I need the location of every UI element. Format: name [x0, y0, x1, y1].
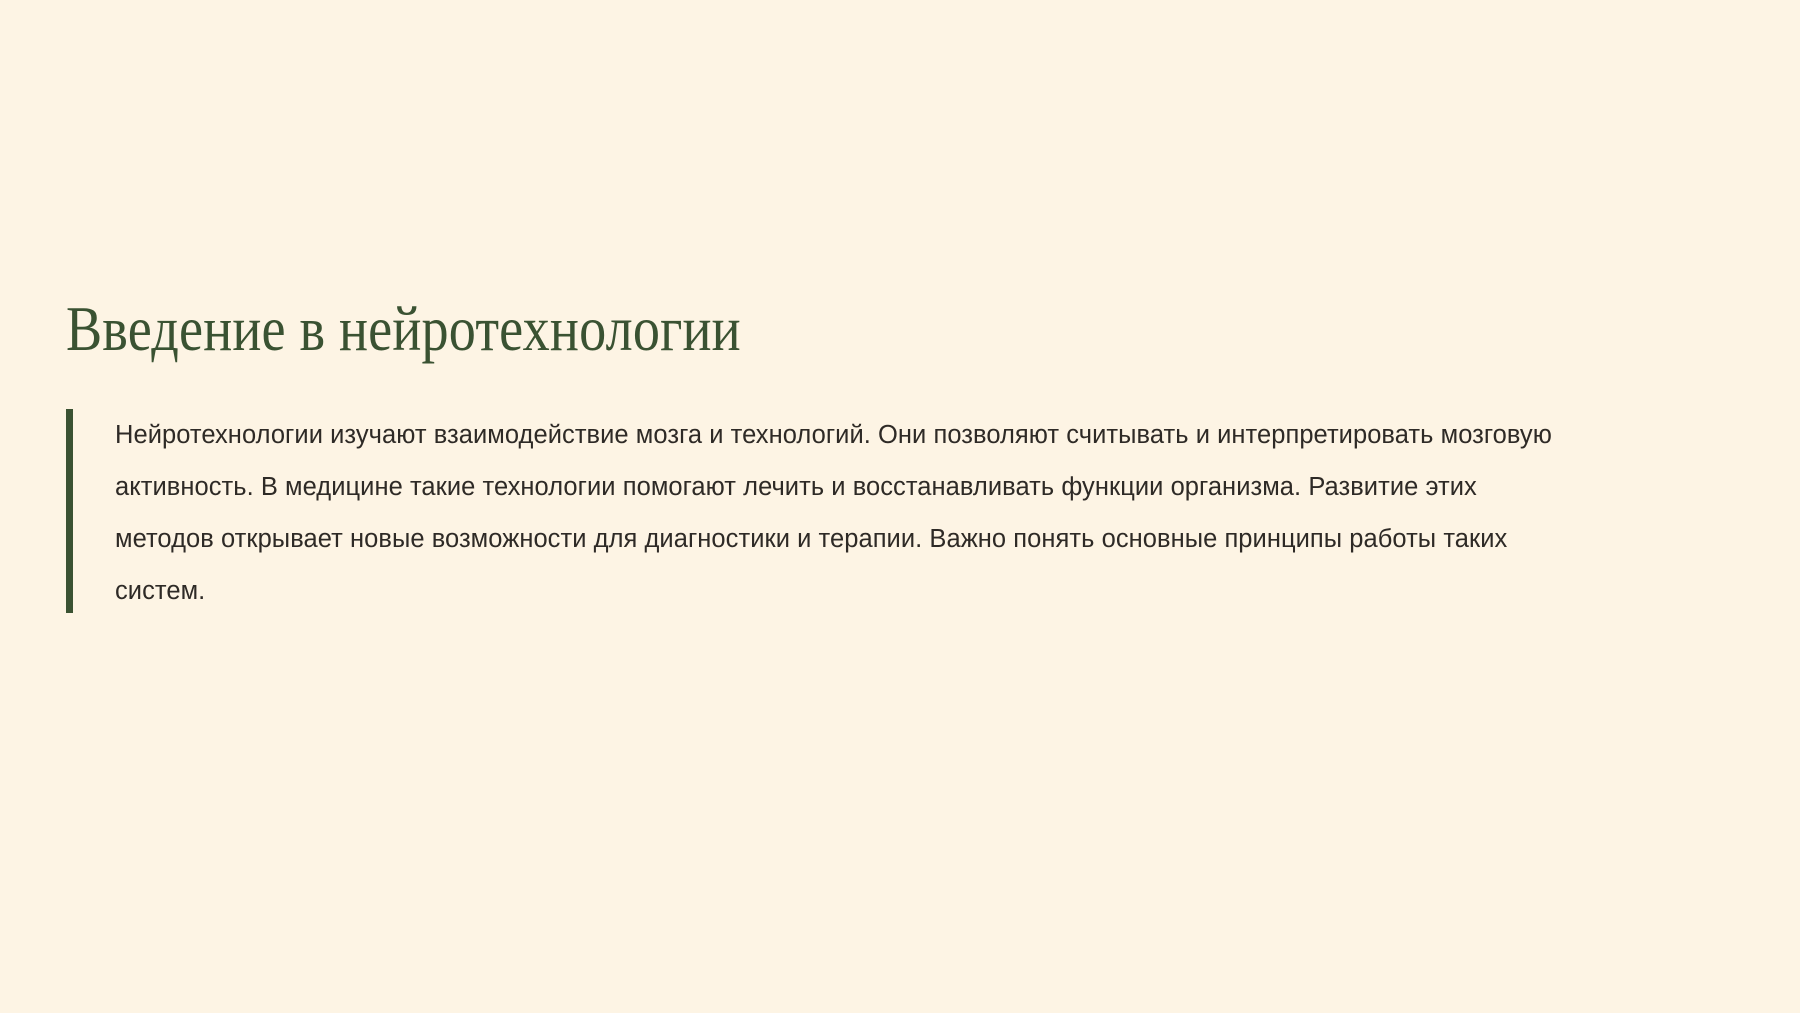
slide-canvas: Введение в нейротехнологии Нейротехнолог… [0, 0, 1800, 1013]
body-callout-block: Нейротехнологии изучают взаимодействие м… [66, 409, 1555, 617]
slide-content: Введение в нейротехнологии Нейротехнолог… [66, 296, 1726, 617]
body-paragraph: Нейротехнологии изучают взаимодействие м… [115, 409, 1555, 617]
accent-bar [66, 409, 73, 613]
page-title: Введение в нейротехнологии [66, 296, 1494, 362]
